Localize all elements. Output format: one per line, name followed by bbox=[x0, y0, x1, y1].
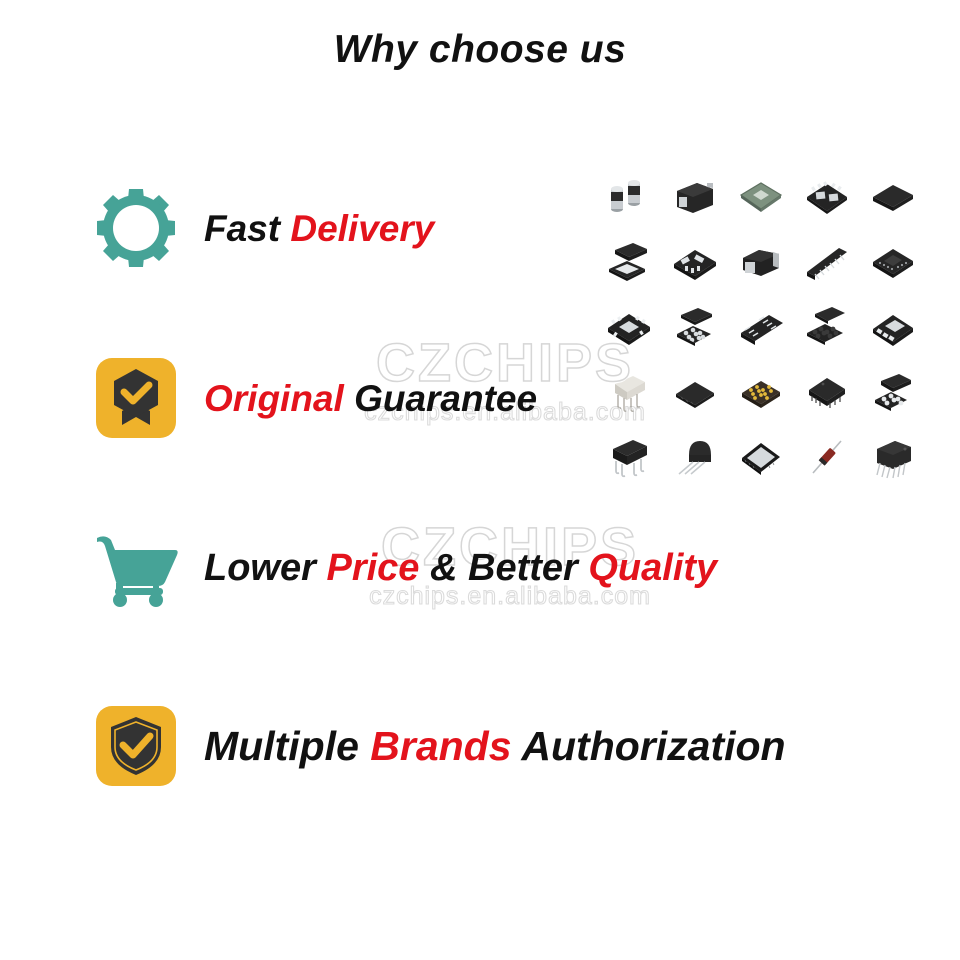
feature-text-part-highlight: Price bbox=[326, 547, 419, 589]
feature-text-part-highlight: Quality bbox=[588, 547, 717, 589]
feature-row-fast-delivery: Fast Delivery bbox=[88, 178, 938, 278]
page-title: Why choose us bbox=[0, 28, 960, 72]
feature-text-part-highlight: Brands bbox=[370, 723, 511, 769]
feature-row-lower-price: Lower Price & Better Quality bbox=[88, 518, 938, 618]
gear-icon bbox=[88, 180, 184, 276]
shopping-cart-icon bbox=[88, 520, 184, 616]
feature-text-part-highlight: Original bbox=[204, 378, 354, 419]
badge-icon-tile bbox=[96, 358, 176, 438]
feature-text-part: Guarantee bbox=[354, 378, 537, 419]
feature-text-part: Multiple bbox=[204, 723, 370, 769]
feature-text-part: Lower bbox=[204, 547, 326, 589]
shield-check-icon bbox=[88, 698, 184, 794]
feature-row-original-guarantee: Original Guarantee bbox=[88, 348, 938, 448]
feature-text-part-highlight: Delivery bbox=[290, 208, 434, 249]
feature-text-part: Authorization bbox=[512, 723, 786, 769]
feature-label-fast-delivery: Fast Delivery bbox=[204, 210, 434, 247]
feature-label-original-guarantee: Original Guarantee bbox=[204, 380, 537, 417]
feature-text-part: & Better bbox=[419, 547, 588, 589]
shield-icon-tile bbox=[96, 706, 176, 786]
feature-label-lower-price: Lower Price & Better Quality bbox=[204, 549, 717, 587]
promo-banner: Why choose us bbox=[0, 0, 960, 960]
feature-text-part: Fast bbox=[204, 208, 290, 249]
badge-check-icon bbox=[88, 350, 184, 446]
feature-row-multiple-brands: Multiple Brands Authorization bbox=[88, 696, 938, 796]
feature-label-multiple-brands: Multiple Brands Authorization bbox=[204, 726, 786, 767]
